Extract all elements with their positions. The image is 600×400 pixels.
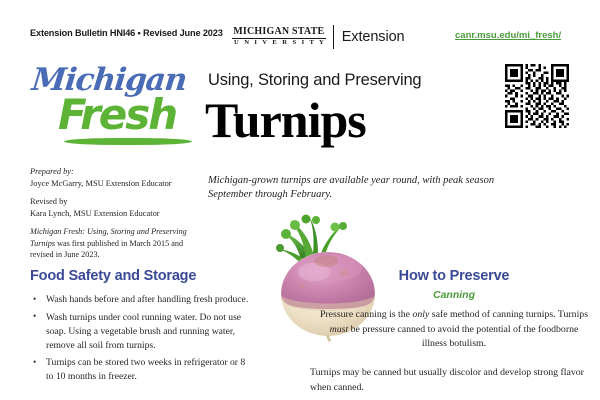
title-kicker: Using, Storing and Preserving (208, 71, 421, 90)
food-safety-section: Food Safety and Storage Wash hands befor… (30, 268, 255, 388)
credits-block: Prepared by: Joyce McGarry, MSU Extensio… (30, 166, 208, 261)
canning-text-a: Pressure canning is the (320, 309, 413, 320)
msu-logo-bottom-line: U N I V E R S I T Y (232, 39, 326, 47)
list-item: Wash turnips under cool running water. D… (46, 311, 255, 353)
canning-subheading: Canning (318, 289, 590, 301)
msu-wordmark: MICHIGAN STATE U N I V E R S I T Y (232, 27, 333, 47)
prepared-by-label: Prepared by: (30, 166, 208, 178)
michigan-fresh-logo: Michigan Fresh (28, 62, 203, 144)
revised-by-name: Kara Lynch, MSU Extension Educator (30, 208, 208, 220)
msu-logo-top-line: MICHIGAN STATE (232, 27, 326, 39)
brand-swoosh-underline (64, 138, 192, 145)
document-page: Extension Bulletin HNI46 • Revised June … (0, 0, 600, 400)
canning-text-c: be pressure canned to avoid the potentia… (348, 324, 578, 350)
msu-extension-logo: MICHIGAN STATE U N I V E R S I T Y Exten… (232, 24, 405, 50)
website-url-link[interactable]: canr.msu.edu/mi_fresh/ (455, 30, 561, 41)
qr-code-icon[interactable] (505, 64, 569, 128)
canning-paragraph: Pressure canning is the only safe method… (318, 308, 590, 352)
prepared-by-name: Joyce McGarry, MSU Extension Educator (30, 178, 208, 190)
canning-emphasis-must: must (330, 324, 349, 335)
document-header: Extension Bulletin HNI46 • Revised June … (0, 28, 600, 52)
page-title: Turnips (205, 93, 366, 148)
canned-quality-paragraph: Turnips may be canned but usually discol… (310, 366, 590, 395)
preserve-heading: How to Preserve (318, 268, 590, 284)
food-safety-list: Wash hands before and after handling fre… (30, 293, 255, 384)
brand-word-fresh: Fresh (58, 94, 176, 136)
canning-emphasis-only: only (412, 309, 429, 320)
prepared-by-group: Prepared by: Joyce McGarry, MSU Extensio… (30, 166, 208, 190)
revised-by-label: Revised by (30, 196, 208, 208)
publication-note: Michigan Fresh: Using, Storing and Prese… (30, 226, 208, 262)
list-item: Turnips can be stored two weeks in refri… (46, 356, 255, 384)
list-item: Wash hands before and after handling fre… (46, 293, 255, 307)
bulletin-number: Extension Bulletin HNI46 • Revised June … (30, 28, 223, 38)
food-safety-heading: Food Safety and Storage (30, 268, 255, 284)
how-to-preserve-section: How to Preserve Canning Pressure canning… (318, 268, 590, 352)
intro-paragraph: Michigan-grown turnips are available yea… (208, 174, 508, 203)
msu-extension-label: Extension (334, 29, 405, 45)
revised-by-group: Revised by Kara Lynch, MSU Extension Edu… (30, 196, 208, 220)
canning-text-b: safe method of canning turnips. Turnips (429, 309, 588, 320)
